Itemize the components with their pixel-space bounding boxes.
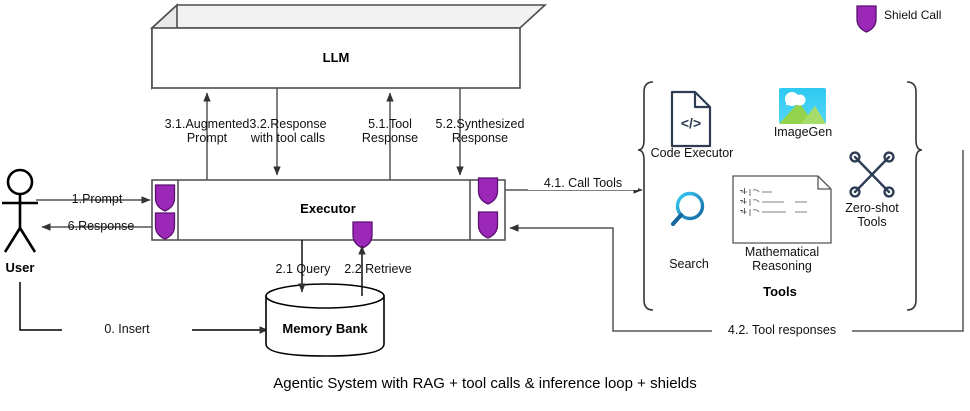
tools-brace-left (638, 82, 653, 310)
llm-label: LLM (323, 50, 350, 65)
shield-icon-executor-bottom (353, 222, 372, 248)
code-glyph: </> (681, 115, 701, 131)
edge-label-call-tools: 4.1. Call Tools (528, 176, 638, 190)
edge-label-query: 2.1 Query (264, 262, 342, 276)
tools-group-label: Tools (763, 284, 797, 299)
user-label: User (6, 260, 35, 275)
edge-label-retrieve: 2.2 Retrieve (332, 262, 424, 276)
legend-label: Shield Call (884, 8, 941, 22)
memory-bank-node[interactable]: Memory Bank (266, 284, 384, 356)
executor-node[interactable]: Executor (152, 180, 505, 240)
magnifier-icon[interactable] (673, 194, 703, 225)
edge-label-response-with-tool-calls: 3.2.Response with tool calls (228, 117, 348, 145)
legend-shield-icon (857, 6, 876, 32)
shield-icon-executor-right-bottom (479, 212, 498, 238)
code-document-icon[interactable]: </> (672, 92, 710, 146)
shield-icon-executor-left-bottom (156, 213, 175, 239)
edge-label-synthesized-response: 5.2.Synthesized Response (420, 117, 540, 145)
memory-bank-label: Memory Bank (282, 321, 368, 336)
formula-document-icon[interactable] (733, 176, 831, 243)
edge-label-response: 6.Response (46, 219, 156, 233)
crossed-wrenches-icon[interactable] (851, 153, 894, 197)
shield-icon-executor-right-top (479, 178, 498, 204)
user-node[interactable]: User (2, 170, 38, 275)
tool-label-math-line1: Mathematical (745, 245, 819, 259)
tool-label-zeroshot-line2: Tools (857, 215, 886, 229)
tool-label-imagegen: ImageGen (774, 125, 832, 139)
tool-label-zeroshot-line1: Zero-shot (845, 201, 899, 215)
executor-label: Executor (300, 201, 356, 216)
edge-label-tool-responses: 4.2. Tool responses (712, 323, 852, 337)
tool-label-search: Search (669, 257, 709, 271)
tool-label-code-executor: Code Executor (651, 146, 734, 160)
diagram-caption: Agentic System with RAG + tool calls & i… (0, 375, 970, 392)
edge-label-prompt: 1.Prompt (42, 192, 152, 206)
shield-icon-executor-left-top (156, 185, 175, 211)
llm-node[interactable]: LLM (152, 5, 545, 88)
tools-brace-right (907, 82, 922, 310)
edge-label-insert: 0. Insert (62, 322, 192, 336)
image-icon[interactable] (779, 88, 826, 124)
tool-label-math-line2: Reasoning (752, 259, 812, 273)
